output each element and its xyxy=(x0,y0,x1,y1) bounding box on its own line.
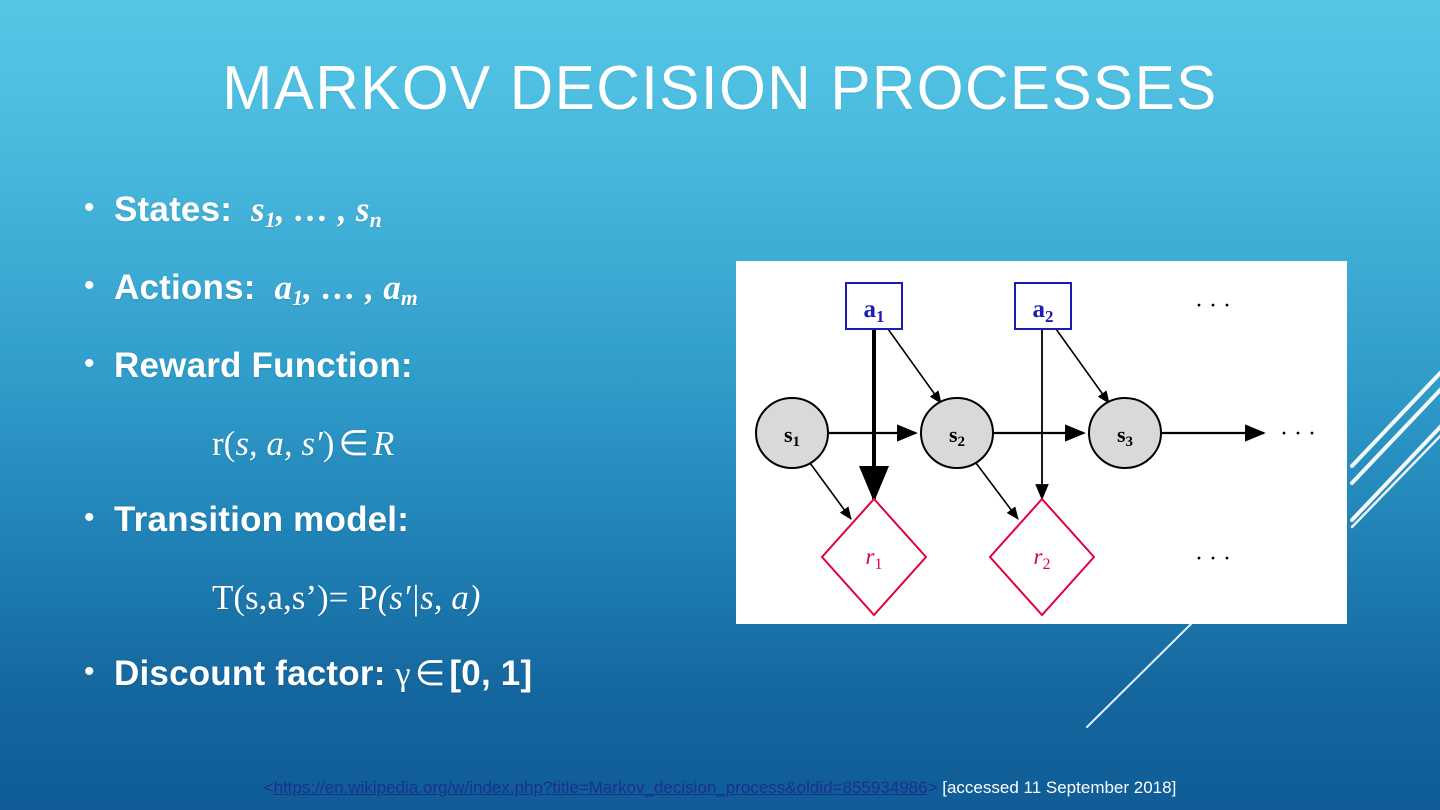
formula-transition: T(s,a,s’)= P(s′|s, a) xyxy=(84,578,724,654)
reward-node-r2: r2 xyxy=(990,499,1094,615)
reward-nodes: r1 r2 xyxy=(822,499,1094,615)
transition-rhs-fn: P xyxy=(358,578,377,618)
transition-lhs-args: (s,a,s’) xyxy=(233,578,328,618)
reward-sub-r1: 1 xyxy=(874,556,882,573)
state-node-s1: s1 xyxy=(756,398,828,468)
bullet-list: • States: s1, … , sn • Actions: a1, … , … xyxy=(84,190,724,732)
state-sub-s3: 3 xyxy=(1126,434,1134,450)
bullet-label-transition-model: Transition model: xyxy=(114,500,409,540)
states-math: s1, … , sn xyxy=(242,190,382,229)
reward-fn-name: r xyxy=(212,424,224,464)
discount-gamma-symbol: γ xyxy=(395,656,410,693)
state-nodes: s1 s2 s3 xyxy=(756,398,1161,468)
bullet-label-actions: Actions: xyxy=(114,268,256,307)
ellipsis-bottom: · · · xyxy=(1195,546,1231,572)
reward-close-paren: ) xyxy=(323,424,335,464)
reward-open-paren: ( xyxy=(224,424,236,464)
actions-math: a1, … , am xyxy=(266,268,418,307)
edge-s1-to-r1 xyxy=(810,463,851,519)
ellipsis-middle: · · · xyxy=(1280,421,1316,447)
bullet-label-states: States: xyxy=(114,190,232,229)
bullet-marker-icon: • xyxy=(84,657,114,687)
action-node-a2: a2 xyxy=(1015,283,1071,329)
state-sub-s1: 1 xyxy=(793,434,801,450)
action-sub-a2: 2 xyxy=(1045,307,1054,326)
reward-sub-r2: 2 xyxy=(1042,556,1050,573)
bullet-marker-icon: • xyxy=(84,349,114,379)
bullet-marker-icon: • xyxy=(84,193,114,223)
mdp-diagram: s1 s2 s3 a1 a2 xyxy=(736,261,1347,624)
transition-lhs-fn: T xyxy=(212,578,233,618)
bullet-item-states: • States: s1, … , sn xyxy=(84,190,724,266)
citation-source-link[interactable]: https://en.wikipedia.org/w/index.php?tit… xyxy=(274,778,928,797)
footer-citation: <https://en.wikipedia.org/w/index.php?ti… xyxy=(0,778,1440,798)
slide-title: MARKOV DECISION PROCESSES xyxy=(22,56,1419,121)
bullet-text-states: States: s1, … , sn xyxy=(114,190,382,233)
bullet-text-actions: Actions: a1, … , am xyxy=(114,268,418,311)
reward-set: R xyxy=(373,424,394,464)
edge-a1-to-s2 xyxy=(888,329,941,403)
bullet-label-discount-factor: Discount factor: xyxy=(114,654,386,693)
state-node-s3: s3 xyxy=(1089,398,1161,468)
citation-close-angle: > xyxy=(928,778,938,797)
action-nodes: a1 a2 xyxy=(846,283,1071,329)
bullet-item-actions: • Actions: a1, … , am xyxy=(84,268,724,344)
bullet-label-reward-function: Reward Function: xyxy=(114,346,413,386)
edge-s2-to-r2 xyxy=(976,463,1018,519)
edge-a2-to-s3 xyxy=(1056,329,1109,403)
mdp-figure-panel: s1 s2 s3 a1 a2 xyxy=(736,261,1347,624)
state-sub-s2: 2 xyxy=(958,434,966,450)
bullet-item-transition-model: • Transition model: xyxy=(84,500,724,576)
action-node-a1: a1 xyxy=(846,283,902,329)
reward-relation: ∈ xyxy=(334,424,373,464)
ellipsis-top: · · · xyxy=(1195,293,1231,319)
bullet-item-reward-function: • Reward Function: xyxy=(84,346,724,422)
citation-open-angle: < xyxy=(264,778,274,797)
transition-equals: = xyxy=(329,578,349,618)
state-node-s2: s2 xyxy=(921,398,993,468)
bullet-item-discount-factor: • Discount factor: γ∈[0, 1] xyxy=(84,654,724,730)
citation-accessed-date: [accessed 11 September 2018] xyxy=(938,778,1177,797)
bullet-text-discount-factor: Discount factor: γ∈[0, 1] xyxy=(114,654,532,694)
bullet-marker-icon: • xyxy=(84,271,114,301)
discount-interval: [0, 1] xyxy=(449,654,532,693)
formula-reward: r(s, a, s′)∈R xyxy=(84,424,724,500)
transition-rhs-args: (s′|s, a) xyxy=(378,578,481,618)
bullet-marker-icon: • xyxy=(84,503,114,533)
action-sub-a1: 1 xyxy=(876,307,885,326)
discount-relation: ∈ xyxy=(411,654,450,693)
reward-args: s, a, s′ xyxy=(235,424,322,464)
slide: MARKOV DECISION PROCESSES • States: s1, … xyxy=(0,0,1440,810)
reward-node-r1: r1 xyxy=(822,499,926,615)
